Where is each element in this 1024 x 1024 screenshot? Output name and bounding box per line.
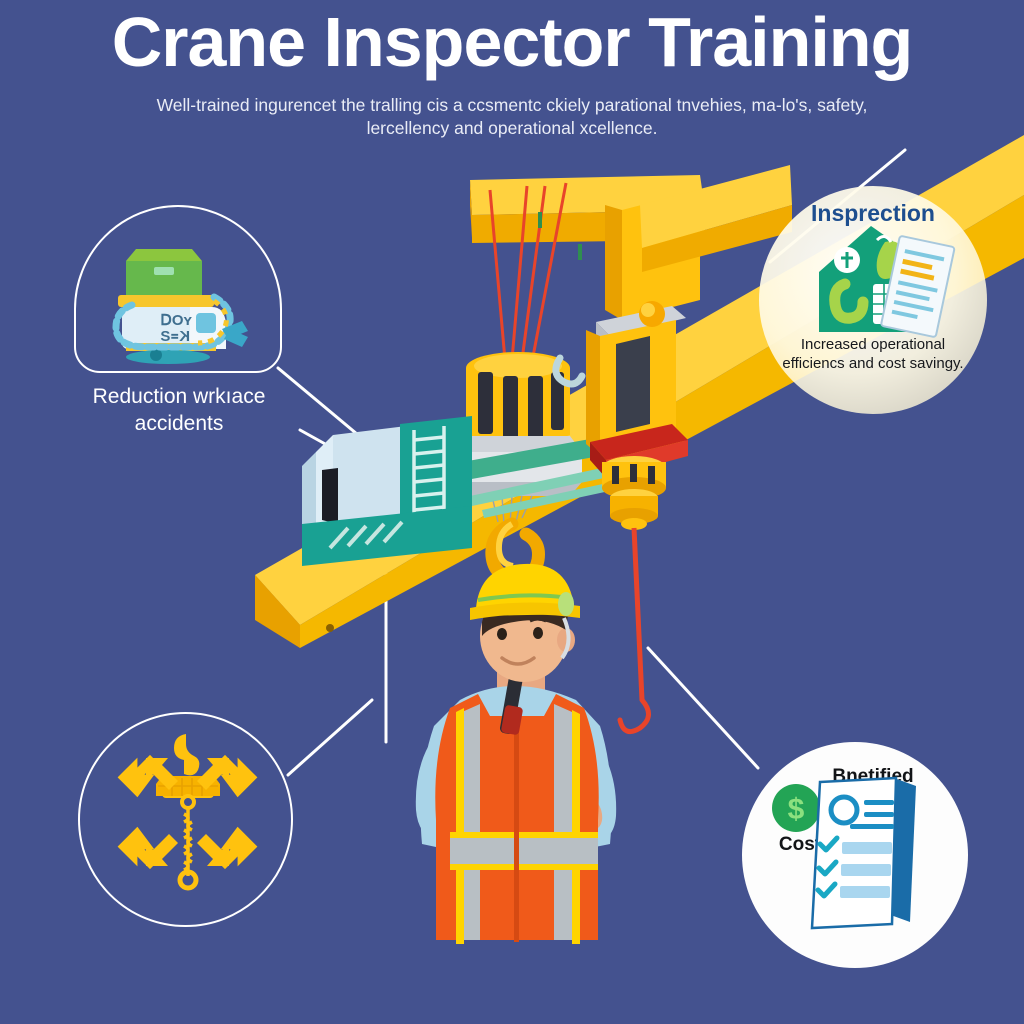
svg-text:ʏOꓷ: ʏOꓷ — [160, 312, 192, 329]
dollar-coin-checklist-document-icon: $ — [742, 742, 968, 968]
hoist-four-arrows-icon — [80, 714, 295, 929]
svg-text:K꓿Ƨ: K꓿Ƨ — [160, 328, 190, 345]
callout-inspection[interactable]: Insprection — [759, 186, 987, 414]
crane-inspector-worker — [416, 564, 616, 944]
svg-text:$: $ — [788, 793, 805, 826]
callout-hoist-lifting[interactable] — [78, 712, 293, 927]
winch-drum — [556, 301, 688, 732]
delivery-truck-cargo-icon: ʏOꓷ K꓿Ƨ — [74, 205, 284, 375]
callout-caption-inspection: Increased operational efficiencs and cos… — [771, 336, 975, 374]
control-cabin — [302, 416, 472, 566]
inspection-checklist-house-icon — [759, 186, 987, 414]
page-subtitle: Well-trained ingurencet the tralling cis… — [152, 94, 872, 141]
callout-label-reduction-accidents: Reduction wrkıace accidents — [66, 383, 292, 438]
infographic-poster: Crane Inspector Training Well-trained in… — [0, 0, 1024, 1024]
callout-cost-benefits[interactable]: Bnetified Cost $ — [742, 742, 968, 968]
page-title: Crane Inspector Training — [0, 6, 1024, 80]
connector-bottomleft — [288, 700, 372, 775]
callout-reduction-accidents[interactable]: ʏOꓷ K꓿Ƨ Reduction wrkıace accidents — [74, 205, 284, 375]
poster-header: Crane Inspector Training Well-trained in… — [0, 6, 1024, 141]
